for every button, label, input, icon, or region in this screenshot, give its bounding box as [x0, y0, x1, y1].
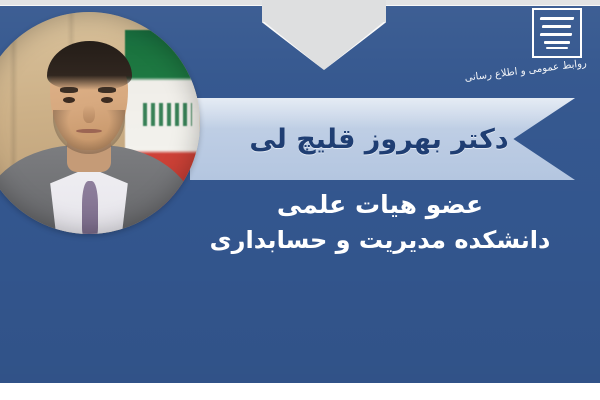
- necktie: [82, 181, 98, 234]
- flag-kufic-band: [143, 103, 193, 127]
- logo-stroke-4: [544, 41, 570, 44]
- nose: [83, 105, 94, 123]
- logo-stroke-3: [540, 33, 573, 36]
- eyebrow-right: [98, 87, 116, 92]
- eyebrow-left: [60, 87, 78, 92]
- faculty-role: عضو هیات علمی: [200, 188, 560, 222]
- subtitle-block: عضو هیات علمی دانشکده مدیریت و حسابداری: [200, 188, 560, 256]
- university-logo: روابط عمومی و اطلاع رسانی: [492, 8, 588, 90]
- logo-stroke-1: [539, 17, 574, 20]
- portrait-photo: [0, 12, 200, 234]
- faculty-profile-card: دکتر بهروز قلیچ لی عضو هیات علمی دانشکده…: [0, 0, 600, 400]
- faculty-name: دکتر بهروز قلیچ لی: [190, 98, 550, 180]
- avatar: [0, 12, 200, 234]
- faculty-department: دانشکده مدیریت و حسابداری: [200, 224, 560, 256]
- hair: [47, 41, 132, 90]
- logo-stroke-2: [542, 25, 571, 28]
- shahid-beheshti-university-logo-icon: [532, 8, 582, 58]
- logo-stroke-5: [546, 47, 567, 49]
- bottom-white-band: [0, 383, 600, 400]
